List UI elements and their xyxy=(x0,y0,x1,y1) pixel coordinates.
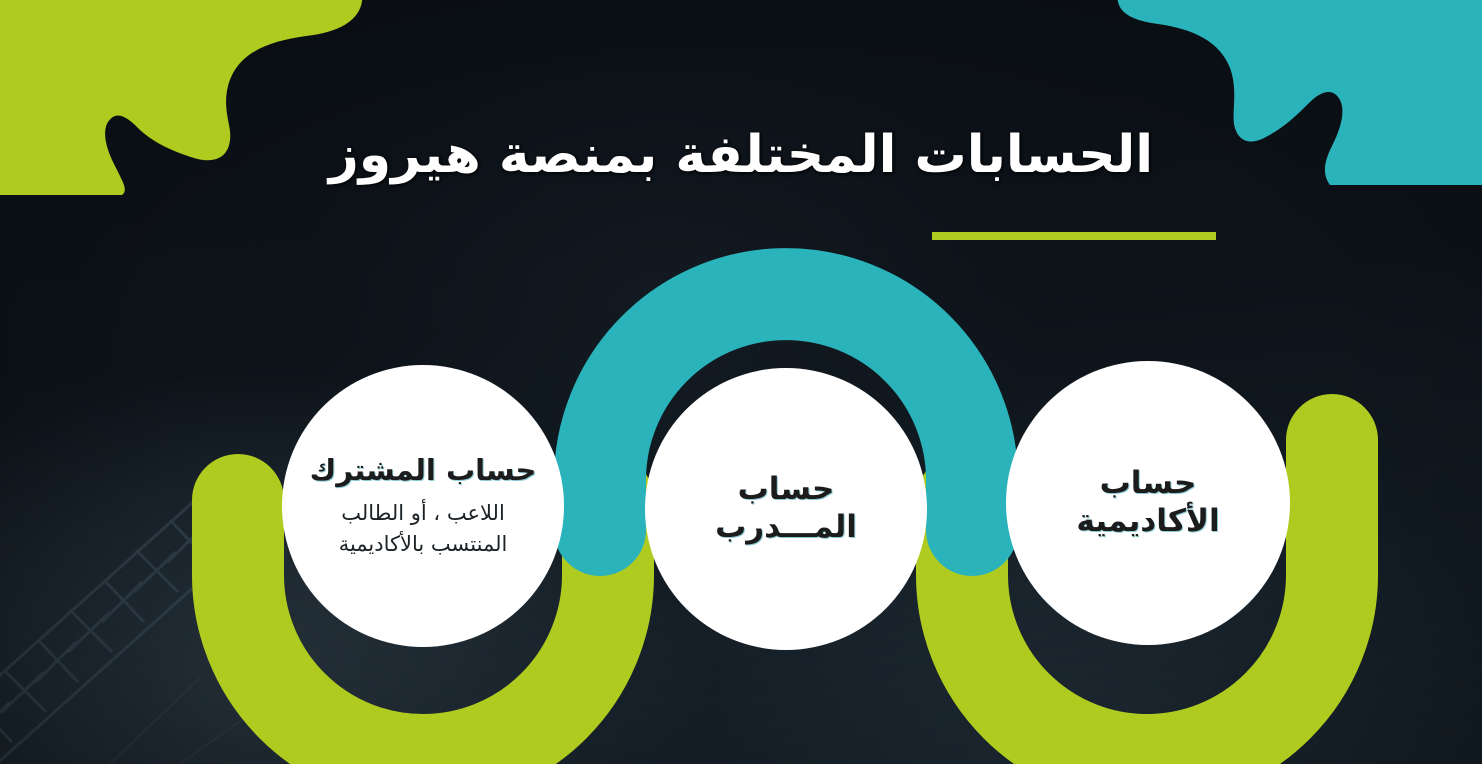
slide-heading-container: الحسابات المختلفة بمنصة هيروز xyxy=(0,128,1482,183)
presentation-slide: حساب المشترك اللاعب ، أو الطالب المنتسب … xyxy=(0,0,1482,764)
card-coach-account[interactable]: حساب المـــدرب xyxy=(645,368,927,650)
card-title-subscriber: حساب المشترك xyxy=(310,453,537,488)
card-title-coach: حساب المـــدرب xyxy=(671,471,901,547)
card-subtitle-subscriber: اللاعب ، أو الطالب المنتسب بالأكاديمية xyxy=(339,498,508,559)
green-underline-bar xyxy=(932,232,1216,240)
card-academy-account[interactable]: حساب الأكاديمية xyxy=(1006,361,1290,645)
card-title-academy: حساب الأكاديمية xyxy=(1032,465,1264,541)
card-subscriber-account[interactable]: حساب المشترك اللاعب ، أو الطالب المنتسب … xyxy=(282,365,564,647)
slide-title: الحسابات المختلفة بمنصة هيروز xyxy=(329,128,1153,183)
